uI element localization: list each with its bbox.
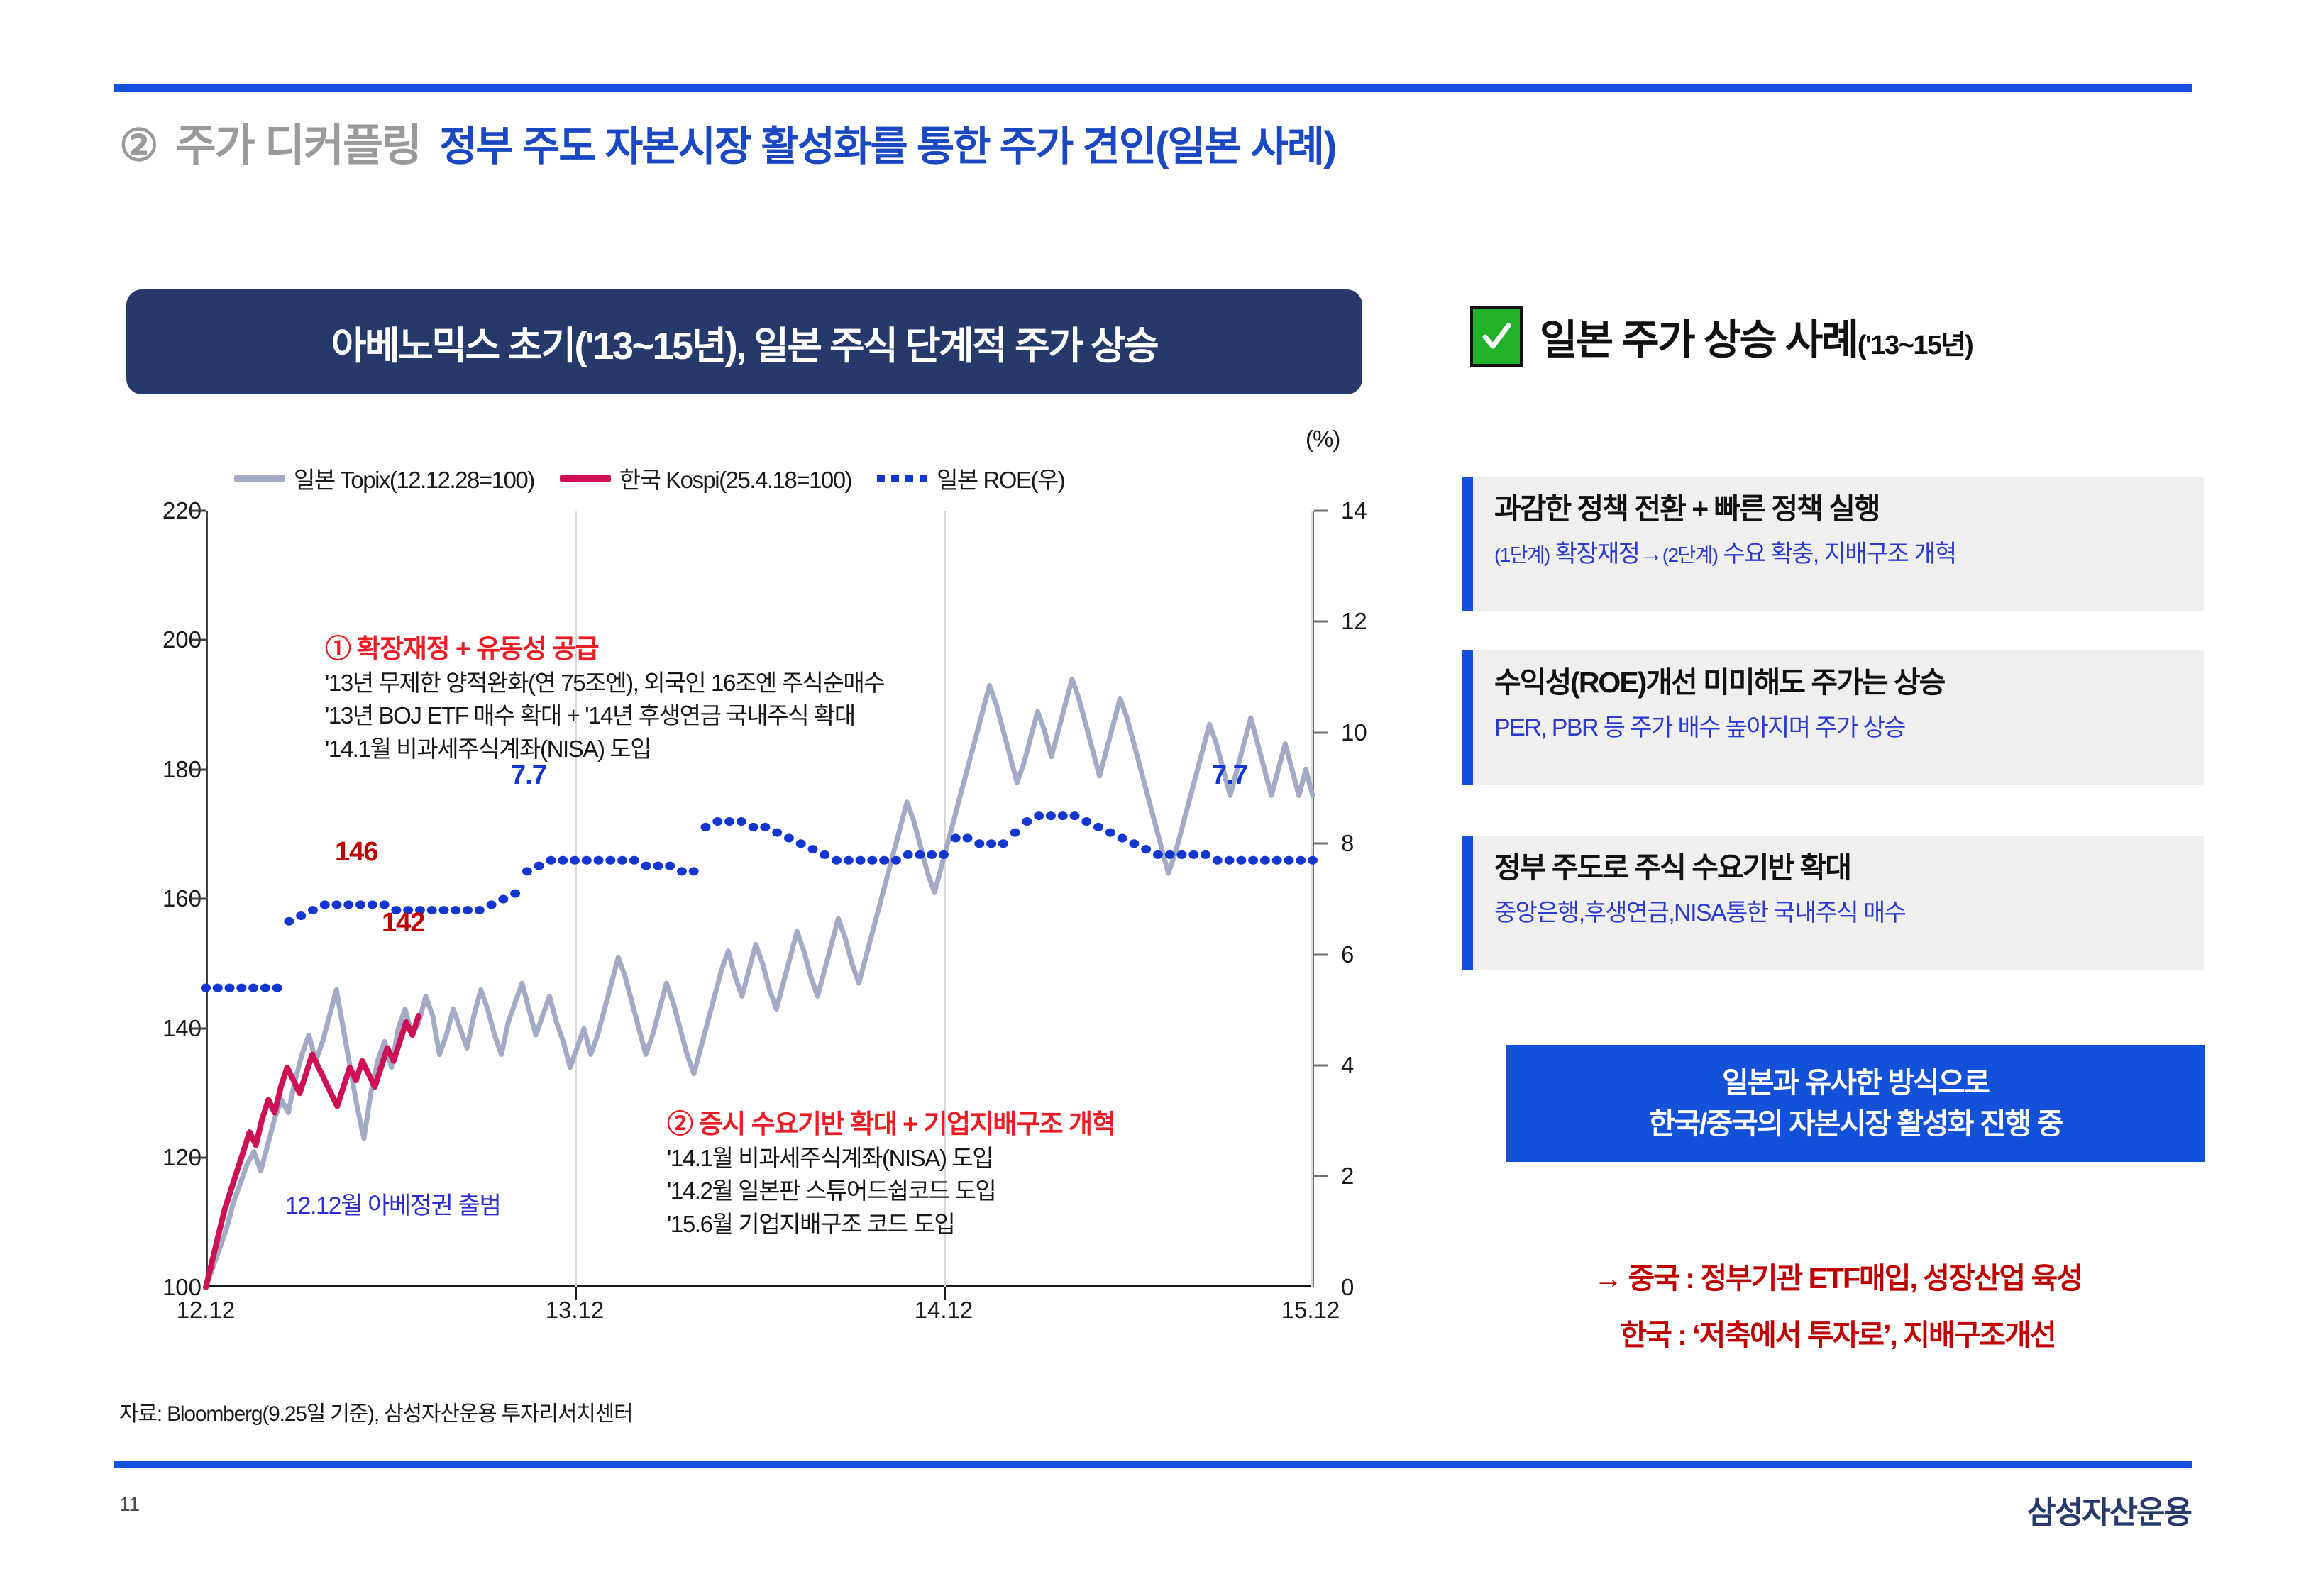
ytick-right-8: 8 [1341,830,1455,857]
section-number: ② [119,124,158,168]
header-top-rule [114,84,2192,92]
ytick-right-6: 6 [1341,941,1455,968]
page-title: ② 주가 디커플링 정부 주도 자본시장 활성화를 통한 주가 견인(일본 사례… [119,124,1964,195]
data-label-roe-right: 7.7 [1212,760,1247,791]
tickmark-left-180 [192,769,206,771]
annotation-1-head: ① 확장재정 + 유동성 공급 [325,631,964,667]
headline: 정부 주도 자본시장 활성화를 통한 주가 견인(일본 사례) [439,126,1335,167]
ytick-right-2: 2 [1341,1163,1455,1190]
info-card-policy-title: 과감한 정책 전환 + 빠른 정책 실행 [1494,492,2185,526]
footer-rule [114,1461,2192,1468]
data-label-146: 146 [335,837,377,868]
info-card-roe: 수익성(ROE)개선 미미해도 주가는 상승 PER, PBR 등 주가 배수 … [1462,650,2204,785]
info-card-policy-sub: (1단계) 확장재정→(2단계) 수요 확충, 지배구조 개혁 [1494,540,2185,569]
annotation-2-line-1: '14.1월 비과세주식계좌(NISA) 도입 [667,1142,1327,1175]
ytick-left-120: 120 [60,1144,202,1171]
data-label-142: 142 [382,908,424,938]
annotation-1-line-2: '13년 BOJ ETF 매수 확대 + '14년 후생연금 국내주식 확대 [325,699,964,733]
abe-regime-label: 12.12월 아베정권 출범 [285,1186,500,1221]
tickmark-left-140 [192,1028,206,1030]
xtick-14-12: 14.12 [866,1297,1022,1324]
right-panel-title-main: 일본 주가 상승 사례 [1540,317,1858,363]
annotation-1-line-3: '14.1월 비과세주식계좌(NISA) 도입 [325,733,964,766]
info-card-roe-sub: PER, PBR 등 주가 배수 높아지며 주가 상승 [1494,714,2185,743]
conclusion-callout: 일본과 유사한 방식으로 한국/중국의 자본시장 활성화 진행 중 [1506,1045,2205,1162]
tickmark-right-8 [1314,843,1328,845]
info-card-demand-sub: 중앙은행,후생연금,NISA통한 국내주식 매수 [1494,899,2185,928]
kospi-line-swatch-icon [560,475,611,482]
ytick-left-140: 140 [60,1015,202,1042]
legend-label-topix: 일본 Topix(12.12.28=100) [294,461,534,495]
topix-line-swatch-icon [234,475,285,482]
tickmark-right-10 [1314,732,1328,734]
right-panel-title: 일본 주가 상승 사례('13~15년) [1540,306,1973,366]
ytick-left-180: 180 [60,756,202,783]
info-card-demand-title: 정부 주도로 주식 수요기반 확대 [1494,851,2185,885]
info-card-policy-stage1: (1단계) [1494,544,1550,566]
chart-banner: 아베노믹스 초기('13~15년), 일본 주식 단계적 주가 상승 [126,289,1362,394]
chart-banner-label: 아베노믹스 초기('13~15년), 일본 주식 단계적 주가 상승 [331,314,1157,370]
series-kospi-line [206,1016,419,1287]
annotation-block-2: ② 증시 수요기반 확대 + 기업지배구조 개혁 '14.1월 비과세주식계좌(… [667,1107,1327,1241]
chart-plot-area: 100 120 140 160 180 200 220 0 2 4 6 8 10… [206,511,1313,1287]
ytick-right-4: 4 [1341,1052,1455,1079]
tickmark-right-12 [1314,621,1328,623]
ytick-left-200: 200 [60,626,202,653]
annotation-block-1: ① 확장재정 + 유동성 공급 '13년 무제한 양적완화(연 75조엔), 외… [325,631,964,766]
ytick-right-14: 14 [1341,497,1455,524]
page-number: 11 [119,1493,140,1516]
chart-source: 자료: Bloomberg(9.25일 기준), 삼성자산운용 투자리서치센터 [119,1396,632,1427]
check-icon [1470,306,1523,367]
info-card-policy: 과감한 정책 전환 + 빠른 정책 실행 (1단계) 확장재정→(2단계) 수요… [1462,477,2204,611]
tickmark-left-160 [192,898,206,900]
ytick-left-220: 220 [60,497,202,524]
ytick-left-160: 160 [60,885,202,912]
info-card-policy-stage2: (2단계) [1662,544,1718,566]
legend-label-kospi: 한국 Kospi(25.4.18=100) [619,461,851,495]
info-card-roe-title: 수익성(ROE)개선 미미해도 주가는 상승 [1494,666,2185,699]
conclusion-line-2: 한국/중국의 자본시장 활성화 진행 중 [1649,1108,2063,1140]
legend-item-topix: 일본 Topix(12.12.28=100) [234,461,534,495]
legend-item-kospi: 한국 Kospi(25.4.18=100) [560,461,851,495]
legend-item-roe: 일본 ROE(우) [877,461,1064,495]
annotation-2-line-2: '14.2월 일본판 스튜어드쉽코드 도입 [667,1175,1327,1208]
xtickmark-14-12 [944,1287,946,1300]
ytick-right-10: 10 [1341,719,1455,746]
tickmark-right-4 [1314,1065,1328,1067]
ytick-right-12: 12 [1341,608,1455,635]
info-card-policy-mid: 확장재정→ [1550,541,1662,567]
info-card-policy-post: 수요 확충, 지배구조 개혁 [1717,541,1955,567]
right-panel-header: 일본 주가 상승 사례('13~15년) [1470,304,2215,369]
section-title: 주가 디커플링 [176,124,421,168]
annotation-1-line-1: '13년 무제한 양적완화(연 75조엔), 외국인 16조엔 주식순매수 [325,667,964,700]
right-axis-unit: (%) [1306,426,1340,453]
chart-legend: 일본 Topix(12.12.28=100) 한국 Kospi(25.4.18=… [234,461,1298,495]
brand-logo: 삼성자산운용 [2027,1487,2191,1532]
xtick-12-12: 12.12 [128,1297,284,1324]
xtick-13-12: 13.12 [497,1297,653,1324]
roe-dotted-swatch-icon [877,475,928,482]
tickmark-right-14 [1314,510,1328,512]
xtick-15-12: 15.12 [1232,1297,1389,1324]
arrow-note-korea: 한국 : ‘저축에서 투자로’, 지배구조개선 [1462,1311,2214,1353]
info-card-demand: 정부 주도로 주식 수요기반 확대 중앙은행,후생연금,NISA통한 국내주식 … [1462,836,2204,970]
tickmark-left-220 [192,510,206,512]
tickmark-left-120 [192,1157,206,1159]
tickmark-left-200 [192,639,206,641]
legend-label-roe: 일본 ROE(우) [937,461,1064,495]
arrow-note-china: → 중국 : 정부기관 ETF매입, 성장산업 육성 [1462,1254,2214,1297]
right-panel-title-sub: ('13~15년) [1858,331,1973,360]
xtickmark-13-12 [575,1287,577,1300]
annotation-2-head: ② 증시 수요기반 확대 + 기업지배구조 개혁 [667,1107,1327,1142]
tickmark-right-6 [1314,954,1328,956]
annotation-2-line-3: '15.6월 기업지배구조 코드 도입 [667,1208,1327,1241]
conclusion-line-1: 일본과 유사한 방식으로 [1722,1067,1989,1099]
